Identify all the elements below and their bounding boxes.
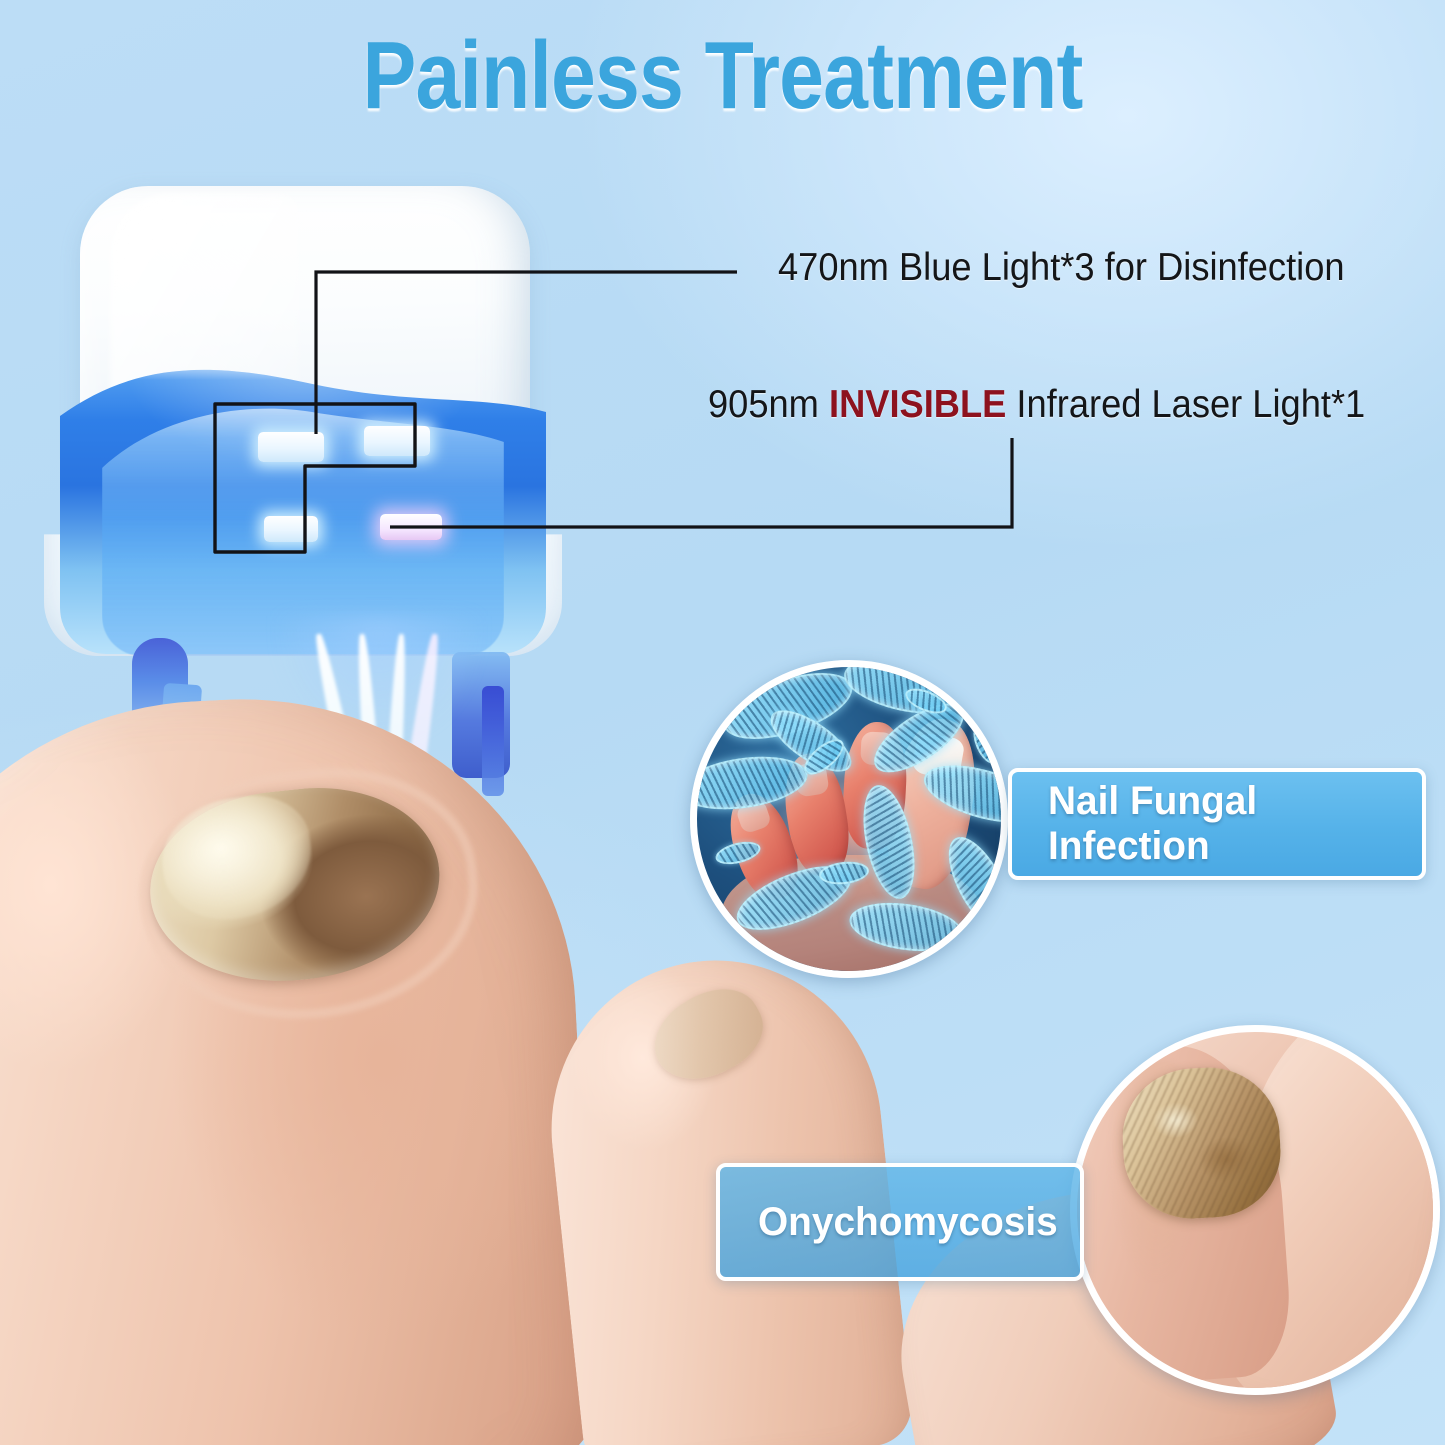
callout-blue-light-label: 470nm Blue Light*3 for Disinfection xyxy=(778,246,1345,290)
badge-nail-fungal-infection[interactable]: Nail Fungal Infection xyxy=(1008,768,1426,880)
photo-bacteria-on-foot xyxy=(690,660,1008,978)
laser-device-head xyxy=(42,186,562,656)
photo-infected-toenail xyxy=(1070,1025,1440,1395)
page-title: Painless Treatment xyxy=(116,28,1330,124)
callout-infrared-emphasis: INVISIBLE xyxy=(829,383,1006,426)
blue-led-2-icon xyxy=(364,426,430,456)
blue-led-1-icon xyxy=(258,432,324,462)
callout-infrared-suffix: Infrared Laser Light*1 xyxy=(1006,383,1365,426)
infected-nail-texture xyxy=(1119,1064,1283,1222)
badge-onychomycosis[interactable]: Onychomycosis xyxy=(716,1163,1084,1281)
callout-infrared-label: 905nm INVISIBLE Infrared Laser Light*1 xyxy=(708,383,1365,427)
product-infographic: Painless Treatment xyxy=(0,0,1445,1445)
badge-onychomycosis-label: Onychomycosis xyxy=(758,1200,1058,1245)
badge-nail-fungal-infection-label: Nail Fungal Infection xyxy=(1048,779,1411,869)
blue-led-3-icon xyxy=(264,516,318,542)
device-contact-post-right-2 xyxy=(482,686,504,796)
infrared-laser-emitter-icon xyxy=(380,514,442,540)
callout-infrared-prefix: 905nm xyxy=(708,383,829,426)
